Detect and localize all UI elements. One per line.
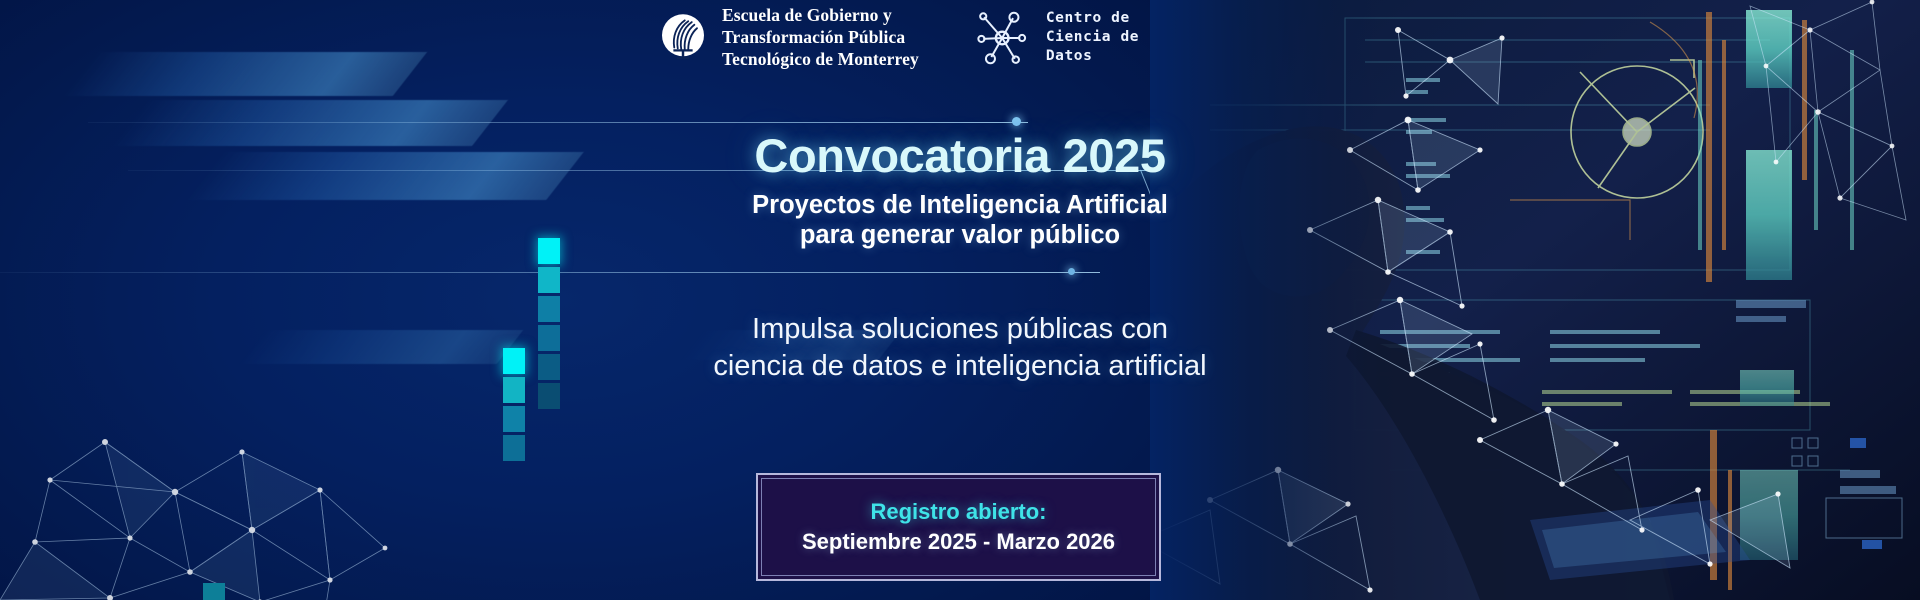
page-subtitle: Proyectos de Inteligencia Artificial par… <box>0 190 1920 251</box>
escuela-line-3: Tecnológico de Monterrey <box>722 48 919 70</box>
ccd-line-3: Datos <box>1046 47 1139 66</box>
escuela-line-2: Transformación Pública <box>722 26 919 48</box>
escuela-wordmark: Escuela de Gobierno y Transformación Púb… <box>722 4 919 70</box>
ccd-line-1: Centro de <box>1046 9 1139 28</box>
network-nodes-icon <box>975 10 1033 66</box>
ccd-line-2: Ciencia de <box>1046 28 1139 47</box>
subtitle-line-2: para generar valor público <box>800 221 1120 249</box>
logo-centro-ciencia-datos: Centro de Ciencia de Datos <box>975 4 1139 66</box>
registration-label: Registro abierto: <box>870 499 1046 525</box>
registration-period: Septiembre 2025 - Marzo 2026 <box>802 529 1115 555</box>
headline-block: Convocatoria 2025 Proyectos de Inteligen… <box>0 128 1920 251</box>
tagline-line-2: ciencia de datos e inteligencia artifici… <box>713 350 1206 382</box>
logo-row: Escuela de Gobierno y Transformación Púb… <box>655 4 1139 70</box>
registration-callout: Registro abierto: Septiembre 2025 - Marz… <box>756 473 1161 581</box>
subtitle-line-1: Proyectos de Inteligencia Artificial <box>752 191 1168 219</box>
tagline-line-1: Impulsa soluciones públicas con <box>752 313 1168 345</box>
logo-escuela-de-gobierno: Escuela de Gobierno y Transformación Púb… <box>655 4 919 70</box>
page-title: Convocatoria 2025 <box>0 128 1920 183</box>
tagline: Impulsa soluciones públicas con ciencia … <box>0 311 1920 384</box>
banner-hero: Escuela de Gobierno y Transformación Púb… <box>0 0 1920 600</box>
ccd-wordmark: Centro de Ciencia de Datos <box>1046 9 1139 66</box>
escuela-line-1: Escuela de Gobierno y <box>722 4 919 26</box>
tec-monterrey-flame-emblem-icon <box>655 9 711 65</box>
